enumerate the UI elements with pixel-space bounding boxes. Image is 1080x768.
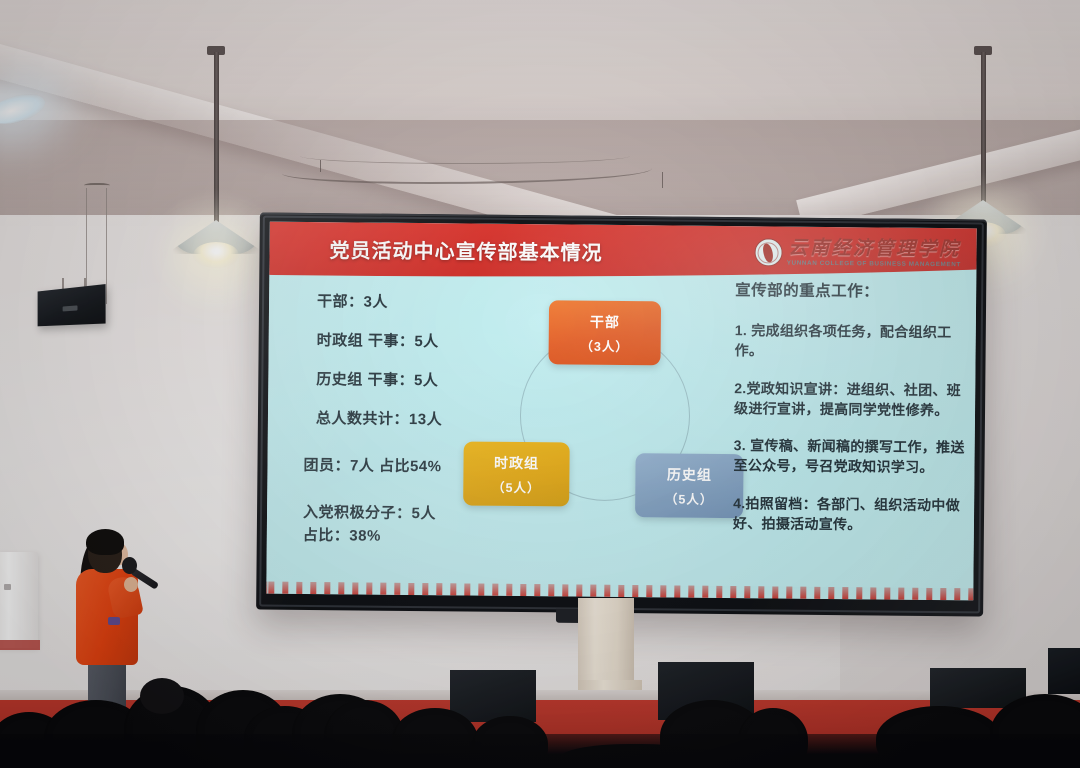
diagram-node-history: 历史组 （5人） xyxy=(635,453,744,518)
node-sublabel: （3人） xyxy=(580,335,629,354)
speaker-badge xyxy=(62,305,77,311)
ceiling-wire xyxy=(300,148,630,164)
jacket-logo xyxy=(108,617,120,625)
slide-canvas: 党员活动中心宣传部基本情况 云南经济管理学院 YUNNAN COLLEGE OF… xyxy=(266,222,977,601)
task-item: 1. 完成组织各项任务，配合组织工作。 xyxy=(735,320,967,363)
university-logo: 云南经济管理学院 YUNNAN COLLEGE OF BUSINESS MANA… xyxy=(754,238,960,268)
dark-equipment-box xyxy=(1048,648,1080,694)
audience-foreground-shadow xyxy=(0,734,1080,768)
dark-equipment-box xyxy=(450,670,536,722)
dispenser-tap[interactable] xyxy=(4,584,11,590)
presenter-hair-top xyxy=(86,529,124,555)
photo-scene: 党员活动中心宣传部基本情况 云南经济管理学院 YUNNAN COLLEGE OF… xyxy=(0,0,1080,768)
node-label: 历史组 xyxy=(667,464,712,484)
lamp-bulb xyxy=(193,242,239,268)
cable-clip xyxy=(662,172,663,188)
presenter-hand xyxy=(124,577,138,592)
node-label: 干部 xyxy=(590,311,620,331)
slide-title: 党员活动中心宣传部基本情况 xyxy=(329,234,602,266)
water-dispenser xyxy=(0,552,38,648)
presentation-display[interactable]: 党员活动中心宣传部基本情况 云南经济管理学院 YUNNAN COLLEGE OF… xyxy=(256,213,987,617)
node-label: 时政组 xyxy=(494,452,539,472)
dispenser-base-shadow xyxy=(0,640,40,650)
wall-speaker xyxy=(38,284,106,326)
cable-clip xyxy=(320,160,321,172)
task-item: 2.党政知识宣讲：进组织、社团、班级进行宣讲，提高同学党性修养。 xyxy=(734,378,966,421)
audience-hair-bun xyxy=(140,678,184,714)
task-item: 4.拍照留档：各部门、组织活动中做好、拍摄活动宣传。 xyxy=(733,493,965,536)
org-cycle-diagram: 干部 （3人） 时政组 （5人） 历史组 （5人） xyxy=(463,299,747,554)
hanging-cable xyxy=(106,188,107,304)
node-sublabel: （5人） xyxy=(665,488,714,507)
diagram-node-current-affairs: 时政组 （5人） xyxy=(463,441,570,506)
slide-right-column: 宣传部的重点工作： 1. 完成组织各项任务，配合组织工作。 2.党政知识宣讲：进… xyxy=(733,278,968,553)
cable-hook xyxy=(84,183,110,189)
display-screen: 党员活动中心宣传部基本情况 云南经济管理学院 YUNNAN COLLEGE OF… xyxy=(266,222,977,601)
microphone-icon xyxy=(122,557,137,574)
logo-text-group: 云南经济管理学院 YUNNAN COLLEGE OF BUSINESS MANA… xyxy=(788,239,960,269)
right-column-heading: 宣传部的重点工作： xyxy=(735,278,967,302)
task-item: 3. 宣传稿、新闻稿的撰写工作，推送至公众号，号召党政知识学习。 xyxy=(733,435,965,478)
logo-name-cn: 云南经济管理学院 xyxy=(788,239,960,260)
diagram-node-cadre: 干部 （3人） xyxy=(548,300,661,365)
university-seal-icon xyxy=(754,238,782,266)
node-sublabel: （5人） xyxy=(492,476,541,495)
